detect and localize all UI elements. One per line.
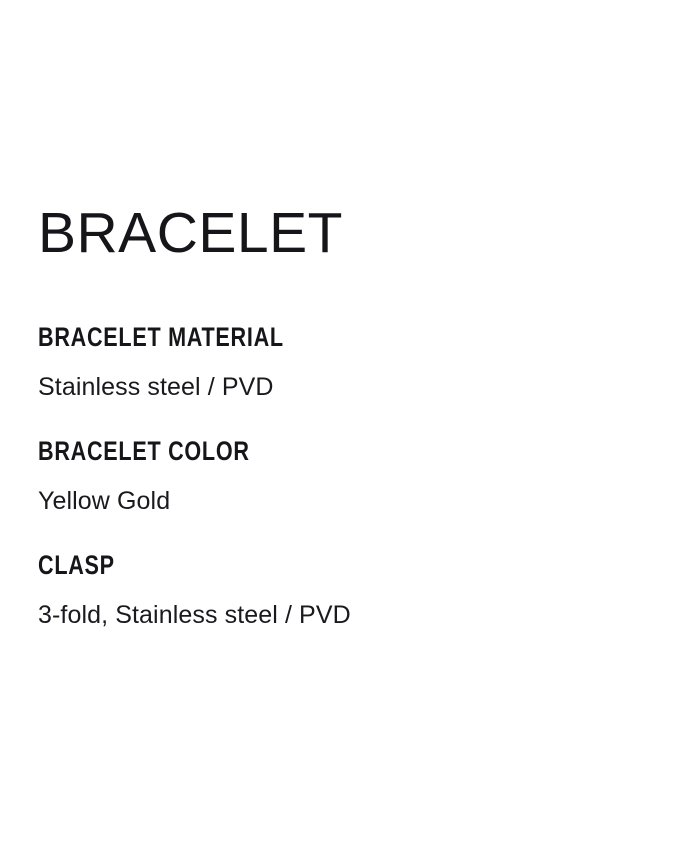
- page-title: BRACELET: [38, 205, 700, 262]
- spec-group-bracelet-material: BRACELET MATERIAL Stainless steel / PVD: [38, 324, 700, 400]
- spec-value-bracelet-material: Stainless steel / PVD: [38, 375, 700, 400]
- spec-group-bracelet-color: BRACELET COLOR Yellow Gold: [38, 438, 700, 514]
- spec-list: BRACELET MATERIAL Stainless steel / PVD …: [38, 324, 700, 628]
- spec-label-clasp: CLASP: [38, 552, 568, 579]
- spec-value-clasp: 3-fold, Stainless steel / PVD: [38, 603, 700, 628]
- spec-value-bracelet-color: Yellow Gold: [38, 489, 700, 514]
- bracelet-spec-panel: BRACELET BRACELET MATERIAL Stainless ste…: [0, 0, 700, 850]
- spec-label-bracelet-material: BRACELET MATERIAL: [38, 324, 568, 351]
- spec-label-bracelet-color: BRACELET COLOR: [38, 438, 568, 465]
- spec-group-clasp: CLASP 3-fold, Stainless steel / PVD: [38, 552, 700, 628]
